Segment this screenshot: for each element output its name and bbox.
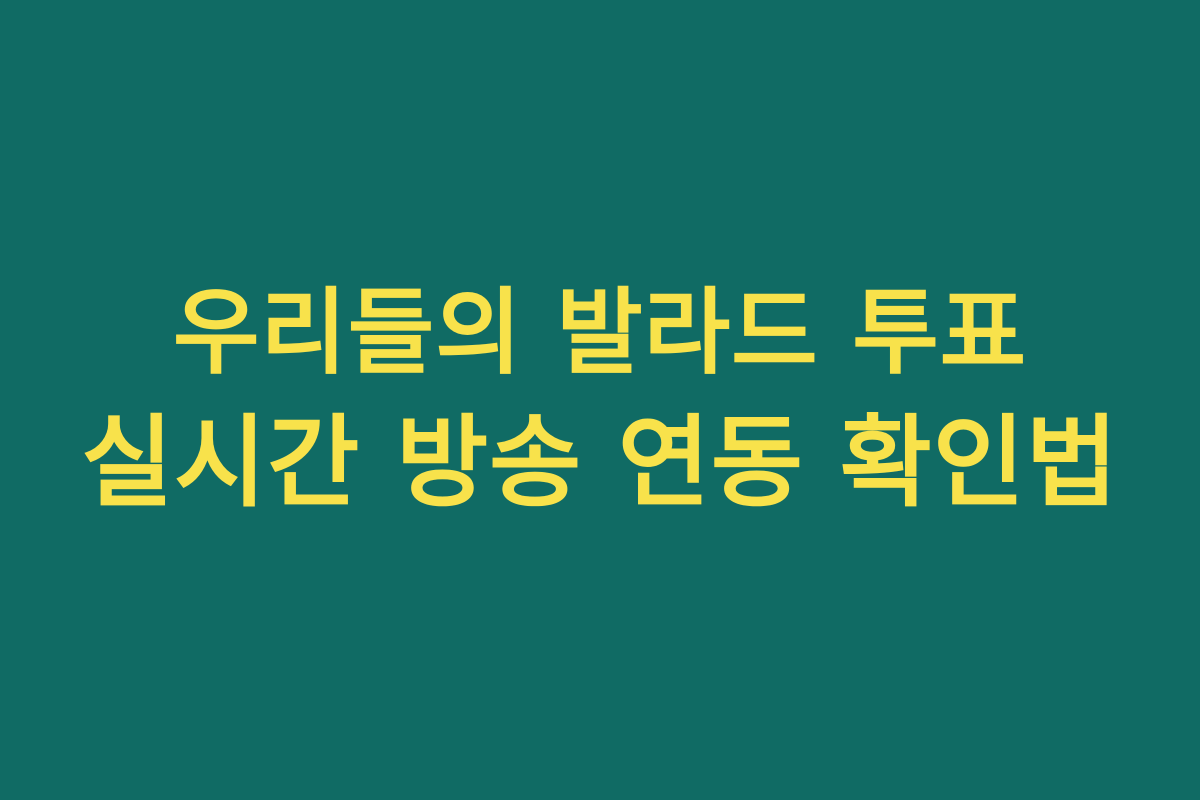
headline-line-2: 실시간 방송 연동 확인법: [0, 409, 1200, 517]
headline-line-1: 우리들의 발라드 투표: [0, 283, 1200, 385]
banner-canvas: 우리들의 발라드 투표 실시간 방송 연동 확인법: [0, 0, 1200, 800]
headline-block: 우리들의 발라드 투표 실시간 방송 연동 확인법: [0, 283, 1200, 517]
